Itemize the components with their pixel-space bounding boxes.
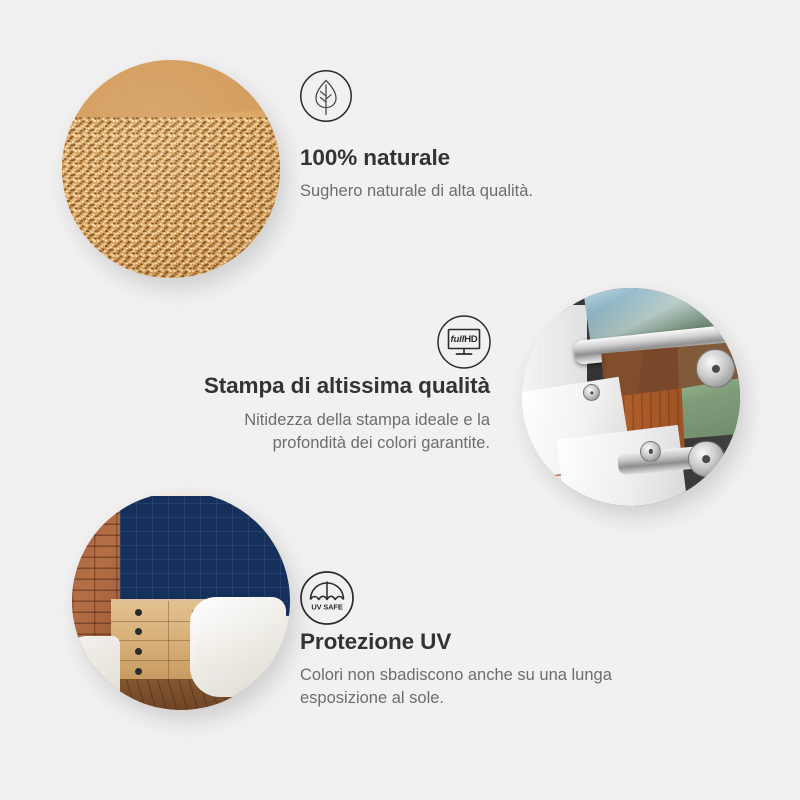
large-format-printer-photo (522, 288, 740, 506)
fullhd-monitor-icon: full (436, 314, 492, 370)
feature-print-quality-description-line2: profondità dei colori garantite. (150, 432, 490, 455)
feature-natural: 100% naturale Sughero naturale di alta q… (300, 144, 720, 203)
feature-uv-protection-title: Protezione UV (300, 628, 720, 655)
leaf-icon (299, 69, 353, 123)
cork-texture-photo (62, 60, 280, 278)
feature-natural-title: 100% naturale (300, 144, 720, 171)
uv-safe-umbrella-icon: UV SAFE (299, 570, 355, 626)
feature-uv-protection-description-line1: Colori non sbadiscono anche su una lunga (300, 664, 720, 687)
feature-print-quality: Stampa di altissima qualità Nitidezza de… (150, 372, 490, 455)
feature-natural-description: Sughero naturale di alta qualità. (300, 180, 720, 203)
world-map-wall-art-photo (72, 492, 290, 710)
feature-print-quality-title: Stampa di altissima qualità (150, 372, 490, 399)
feature-highlights-page: 100% naturale Sughero naturale di alta q… (0, 0, 800, 800)
feature-print-quality-description-line1: Nitidezza della stampa ideale e la (150, 409, 490, 432)
feature-uv-protection: Protezione UV Colori non sbadiscono anch… (300, 628, 720, 710)
feature-uv-protection-description-line2: esposizione al sole. (300, 687, 720, 710)
uv-safe-label: UV SAFE (311, 603, 343, 612)
